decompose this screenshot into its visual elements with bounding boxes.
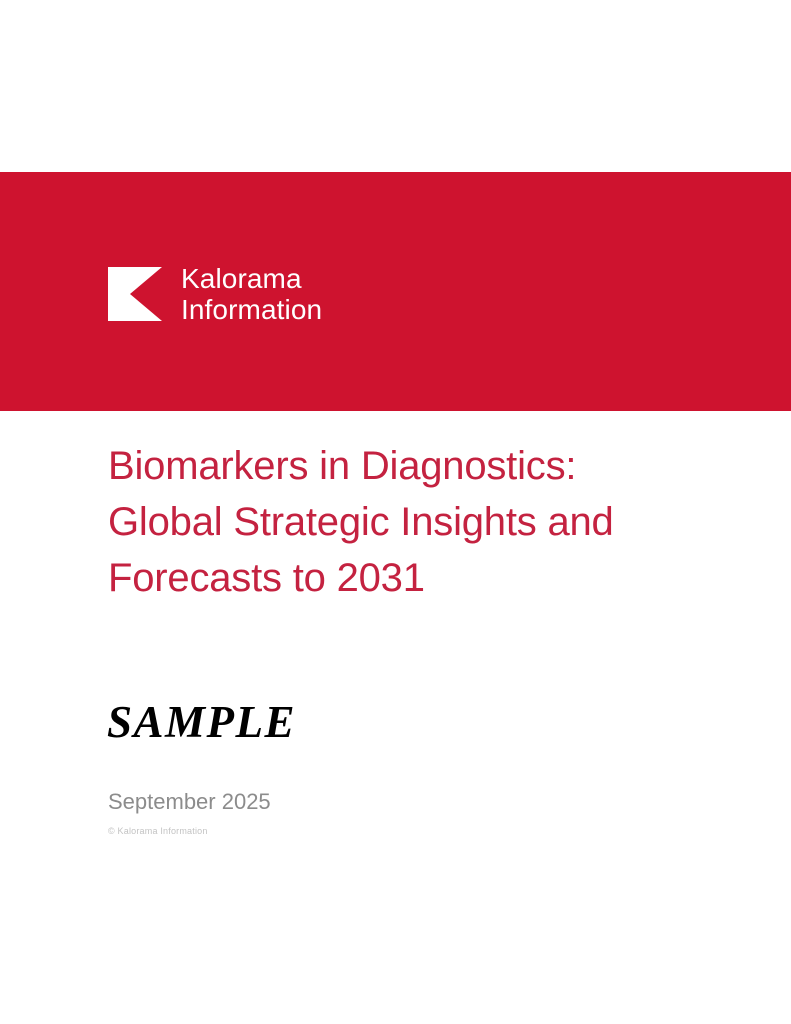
publication-date: September 2025: [108, 789, 271, 815]
brand-wordmark-line-1: Kalorama: [181, 263, 322, 294]
brand-wordmark-line-2: Information: [181, 294, 322, 325]
brand-wordmark: Kalorama Information: [181, 263, 322, 325]
report-title-line-1: Biomarkers in Diagnostics:: [108, 438, 708, 494]
sample-label: SAMPLE: [107, 697, 296, 747]
kalorama-k-logo-icon: [108, 267, 162, 321]
report-cover-page: Kalorama Information Biomarkers in Diagn…: [0, 0, 791, 1024]
report-title-line-2: Global Strategic Insights and: [108, 494, 708, 550]
copyright-notice: © Kalorama Information: [108, 825, 208, 837]
report-title: Biomarkers in Diagnostics: Global Strate…: [108, 438, 708, 606]
report-title-line-3: Forecasts to 2031: [108, 550, 708, 606]
brand-lockup: Kalorama Information: [108, 263, 322, 325]
